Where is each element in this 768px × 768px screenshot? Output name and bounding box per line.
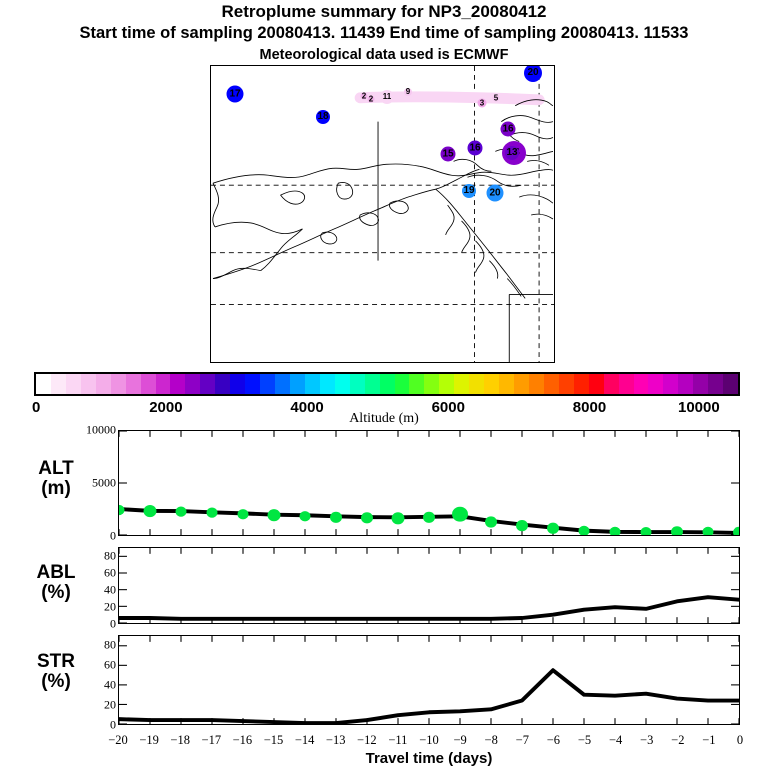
colorbar-segment — [395, 374, 410, 394]
altitude-marker — [176, 506, 187, 516]
y-axis-tick-label: 10000 — [0, 423, 120, 438]
altitude-marker — [392, 512, 405, 524]
alt-plot-canvas — [119, 431, 739, 535]
altitude-timeseries-plot[interactable] — [118, 430, 740, 536]
colorbar-tick-label: 10000 — [678, 399, 720, 416]
x-axis-tick-label: −11 — [388, 733, 407, 748]
altitude-marker — [671, 526, 683, 535]
colorbar-segment — [529, 374, 544, 394]
meteorology-source: Meteorological data used is ECMWF — [0, 47, 768, 63]
altitude-marker — [641, 527, 652, 535]
x-axis-tick-label: −9 — [453, 733, 466, 748]
colorbar-tick-label: 0 — [32, 399, 40, 416]
series-line — [119, 597, 739, 619]
plume-cluster-marker: 5 — [493, 95, 500, 102]
altitude-marker — [733, 527, 739, 535]
plume-cluster-marker: 9 — [404, 88, 412, 96]
colorbar-segment — [245, 374, 260, 394]
y-axis-tick-label: 40 — [0, 582, 120, 597]
colorbar-segment — [96, 374, 111, 394]
retroplume-cluster-marker: 17 — [227, 86, 244, 103]
colorbar-segment — [499, 374, 514, 394]
colorbar-tick-label: 4000 — [290, 399, 323, 416]
altitude-marker — [238, 509, 249, 519]
altitude-marker — [547, 523, 559, 534]
y-axis-tick-label: 60 — [0, 658, 120, 673]
y-axis-tick-label: 0 — [0, 529, 120, 544]
colorbar-segment — [693, 374, 708, 394]
y-axis-tick-label: 80 — [0, 638, 120, 653]
altitude-marker — [703, 527, 714, 535]
y-axis-tick-label: 0 — [0, 718, 120, 733]
colorbar-segment — [170, 374, 185, 394]
x-axis-tick-label: −1 — [702, 733, 715, 748]
colorbar-segment — [559, 374, 574, 394]
colorbar-segment — [215, 374, 230, 394]
altitude-marker — [579, 526, 590, 535]
colorbar-segment — [380, 374, 395, 394]
plume-cluster-marker: 2 — [368, 96, 375, 103]
colorbar-segment — [290, 374, 305, 394]
colorbar-segment — [574, 374, 589, 394]
altitude-marker — [119, 505, 124, 515]
str-timeseries-plot[interactable] — [118, 635, 740, 725]
colorbar-segment — [81, 374, 96, 394]
colorbar-segment — [305, 374, 320, 394]
colorbar-segment — [320, 374, 335, 394]
retroplume-cluster-marker: 20 — [487, 185, 504, 202]
retroplume-cluster-marker: 19 — [462, 184, 476, 198]
colorbar-segment — [111, 374, 126, 394]
altitude-marker — [330, 512, 342, 523]
x-axis-tick-label: −7 — [516, 733, 529, 748]
x-axis-tick-label: −15 — [264, 733, 284, 748]
x-axis-tick-label: −3 — [640, 733, 653, 748]
y-axis-tick-label: 5000 — [0, 476, 120, 491]
sampling-times: Start time of sampling 20080413. 11439 E… — [0, 24, 768, 43]
colorbar-segment — [619, 374, 634, 394]
plume-cluster-marker: 2 — [361, 93, 368, 100]
y-axis-tick-label: 20 — [0, 698, 120, 713]
colorbar-segment — [514, 374, 529, 394]
colorbar-tick-label: 8000 — [573, 399, 606, 416]
colorbar-segment — [604, 374, 619, 394]
altitude-marker — [423, 512, 435, 523]
altitude-marker — [268, 509, 281, 521]
colorbar-segment — [409, 374, 424, 394]
retroplume-cluster-marker: 16 — [468, 141, 483, 156]
altitude-marker — [144, 505, 157, 517]
abl-plot-canvas — [119, 548, 739, 623]
x-axis-tick-label: −13 — [326, 733, 346, 748]
x-axis-tick-label: −18 — [170, 733, 190, 748]
colorbar-segment — [484, 374, 499, 394]
x-axis-tick-label: −2 — [671, 733, 684, 748]
colorbar-segment — [708, 374, 723, 394]
retroplume-cluster-marker: 15 — [441, 147, 456, 162]
colorbar-segment — [156, 374, 171, 394]
altitude-marker — [361, 512, 373, 523]
series-line — [119, 670, 739, 723]
colorbar-segment — [454, 374, 469, 394]
colorbar-segment — [424, 374, 439, 394]
x-axis-tick-label: −10 — [419, 733, 439, 748]
colorbar-segment — [589, 374, 604, 394]
colorbar-segment — [365, 374, 380, 394]
colorbar-segment — [663, 374, 678, 394]
colorbar-segment — [335, 374, 350, 394]
y-axis-tick-label: 0 — [0, 617, 120, 632]
colorbar-segment — [723, 374, 738, 394]
x-axis-tick-label: 0 — [737, 733, 743, 748]
x-axis-tick-label: −4 — [609, 733, 622, 748]
page-title: Retroplume summary for NP3_20080412 — [0, 2, 768, 22]
colorbar-segment — [141, 374, 156, 394]
x-axis-tick-label: −20 — [108, 733, 128, 748]
colorbar-segment — [200, 374, 215, 394]
x-axis-tick-label: −17 — [202, 733, 222, 748]
altitude-colorbar — [34, 372, 740, 396]
altitude-marker — [610, 527, 621, 535]
y-axis-tick-label: 60 — [0, 565, 120, 580]
y-axis-tick-label: 20 — [0, 599, 120, 614]
y-axis-tick-label: 40 — [0, 678, 120, 693]
colorbar-segment — [678, 374, 693, 394]
colorbar-segment — [439, 374, 454, 394]
colorbar-segment — [185, 374, 200, 394]
altitude-marker — [452, 507, 468, 522]
colorbar-segment — [469, 374, 484, 394]
colorbar-segment — [126, 374, 141, 394]
plume-cluster-marker: 11 — [380, 90, 394, 104]
colorbar-segment — [275, 374, 290, 394]
colorbar-segment — [66, 374, 81, 394]
colorbar-tick-label: 2000 — [149, 399, 182, 416]
colorbar-segment — [350, 374, 365, 394]
retroplume-cluster-marker: 18 — [316, 110, 330, 124]
map-graticule-and-coastline — [211, 66, 554, 362]
retroplume-cluster-marker: 16 — [501, 122, 516, 137]
plume-cluster-marker: 3 — [478, 99, 487, 108]
retroplume-cluster-marker: 13 — [505, 146, 519, 160]
colorbar-segment — [51, 374, 66, 394]
colorbar-segment — [648, 374, 663, 394]
x-axis-tick-label: −16 — [233, 733, 253, 748]
x-axis-tick-label: −19 — [139, 733, 159, 748]
colorbar-segment — [260, 374, 275, 394]
x-axis-tick-label: −8 — [485, 733, 498, 748]
x-axis-tick-label: −6 — [547, 733, 560, 748]
x-axis-tick-label: −12 — [357, 733, 377, 748]
colorbar-segment — [230, 374, 245, 394]
colorbar-tick-label: 6000 — [432, 399, 465, 416]
x-axis-tick-label: −14 — [295, 733, 315, 748]
altitude-marker — [516, 520, 528, 531]
x-axis-tick-label: −5 — [578, 733, 591, 748]
altitude-marker — [300, 511, 311, 521]
y-axis-tick-label: 80 — [0, 548, 120, 563]
colorbar-segment — [544, 374, 559, 394]
altitude-marker — [485, 516, 497, 527]
colorbar-segment — [36, 374, 51, 394]
abl-timeseries-plot[interactable] — [118, 547, 740, 624]
retroplume-map[interactable]: 221193517182016151614131920 — [210, 65, 555, 363]
x-axis-title: Travel time (days) — [118, 750, 740, 767]
altitude-marker — [207, 508, 218, 518]
str-plot-canvas — [119, 636, 739, 724]
colorbar-segment — [634, 374, 649, 394]
